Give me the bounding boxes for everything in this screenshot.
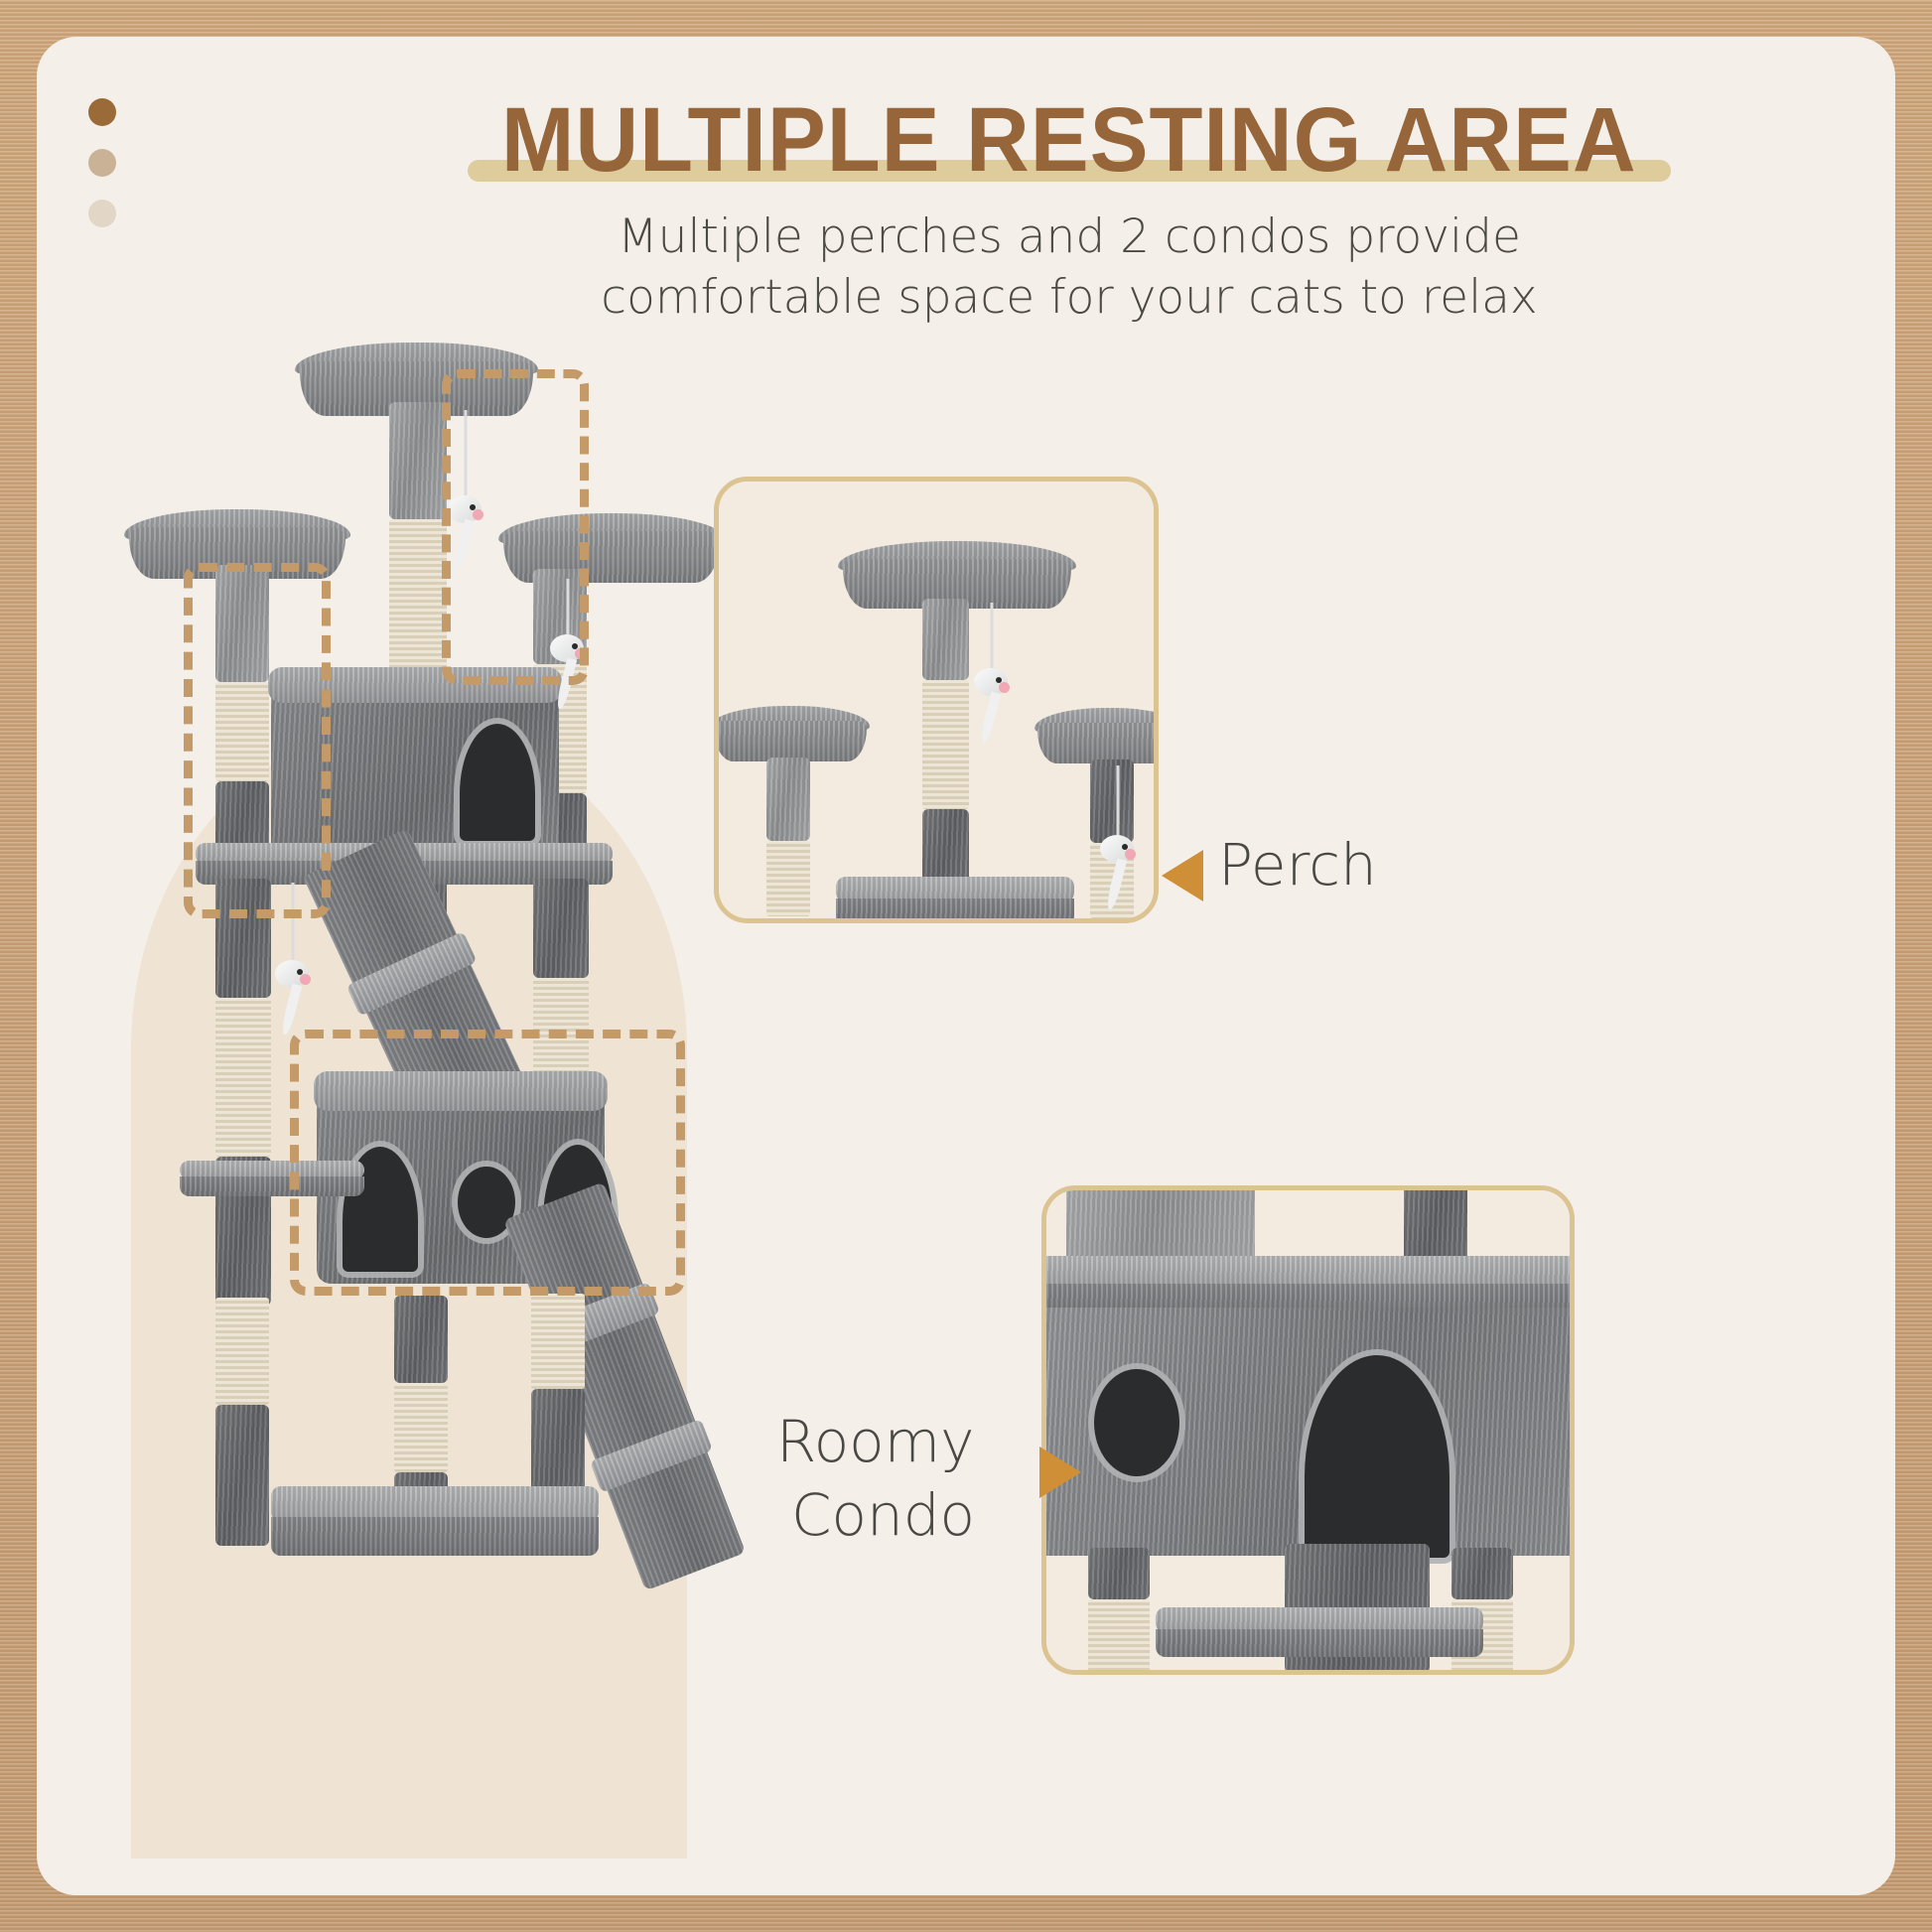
inset-perch-left bbox=[714, 706, 870, 761]
page-title: MULTIPLE RESTING AREA bbox=[501, 91, 1637, 190]
heading-block: MULTIPLE RESTING AREA Multiple perches a… bbox=[285, 91, 1854, 328]
page-subtitle: Multiple perches and 2 condos provide co… bbox=[285, 207, 1854, 327]
base-board bbox=[271, 1486, 599, 1556]
inset-condo-post-back bbox=[1404, 1185, 1467, 1266]
perch-arrow-icon bbox=[1162, 850, 1203, 901]
condo-inset-card bbox=[1041, 1185, 1575, 1675]
dot-medium-icon bbox=[88, 149, 116, 177]
subtitle-line-1: Multiple perches and 2 condos provide bbox=[285, 207, 1854, 267]
outer-frame: MULTIPLE RESTING AREA Multiple perches a… bbox=[0, 0, 1932, 1932]
post-left-mid bbox=[215, 879, 271, 1306]
condo-arrow-icon bbox=[1039, 1447, 1081, 1498]
condo-label-line-2: Condo bbox=[791, 1481, 975, 1549]
inset-mouse-toy-upper bbox=[972, 603, 1012, 752]
inset-base-platform bbox=[836, 877, 1074, 923]
inset-condo-post-left bbox=[1088, 1548, 1150, 1672]
post-base-left bbox=[215, 1298, 269, 1546]
inset-post-center bbox=[922, 599, 969, 897]
inset-condo-base bbox=[1156, 1607, 1483, 1657]
inset-mouse-toy-lower bbox=[1098, 765, 1138, 904]
inset-perch-right bbox=[1035, 708, 1159, 763]
base-edge bbox=[271, 1517, 599, 1556]
perch-label: Perch bbox=[1218, 831, 1377, 898]
dot-light-icon bbox=[88, 200, 116, 227]
perch-inset-card bbox=[714, 477, 1159, 923]
condo-label-line-1: Roomy bbox=[776, 1408, 975, 1475]
dot-dark-icon bbox=[88, 98, 116, 126]
dashed-callout-lower-condo bbox=[290, 1030, 685, 1296]
dashed-callout-left-post bbox=[184, 563, 331, 918]
title-wrapper: MULTIPLE RESTING AREA bbox=[478, 91, 1660, 190]
inset-condo-body bbox=[1041, 1308, 1575, 1556]
inset-post-left bbox=[766, 758, 810, 916]
content-panel: MULTIPLE RESTING AREA Multiple perches a… bbox=[37, 37, 1895, 1895]
dashed-callout-top-perch bbox=[442, 369, 589, 685]
decorative-dots bbox=[88, 98, 116, 250]
inset-condo-window-round bbox=[1094, 1369, 1179, 1476]
